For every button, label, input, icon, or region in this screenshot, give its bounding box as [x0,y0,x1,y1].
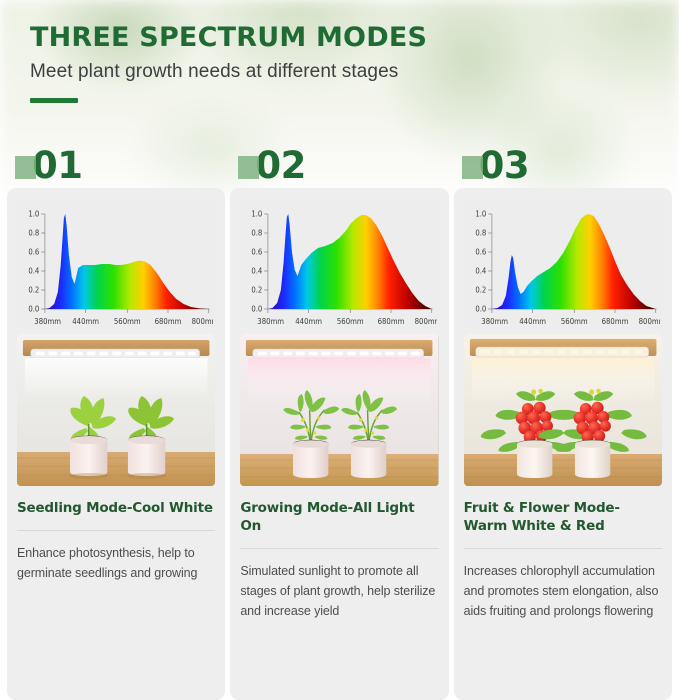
svg-text:680mm: 680mm [155,317,182,326]
spectrum-chart-svg: 1.0 0.8 0.6 0.4 0.2 0.0 380mm 440mm 560m… [19,204,213,334]
svg-text:560mm: 560mm [114,317,141,326]
page-header: THREE SPECTRUM MODES Meet plant growth n… [0,0,679,103]
svg-text:0.6: 0.6 [475,247,486,256]
spectrum-modes-page: THREE SPECTRUM MODES Meet plant growth n… [0,0,679,660]
svg-text:0.2: 0.2 [28,285,39,294]
svg-text:1.0: 1.0 [475,209,486,218]
spectrum-chart-01: 1.0 0.8 0.6 0.4 0.2 0.0 380mm 440mm 560m… [17,198,215,328]
grow-light-scene-full-spectrum [240,334,438,486]
accent-divider [30,98,78,103]
svg-text:440mm: 440mm [296,317,323,326]
badge-square-icon [15,156,36,179]
svg-text:0.2: 0.2 [252,285,263,294]
badge-square-icon [462,156,483,179]
mode-badge-03: 03 [454,142,672,188]
svg-text:380mm: 380mm [258,317,285,326]
badge-number: 01 [32,147,83,184]
mode-card-01: 1.0 0.8 0.6 0.4 0.2 0.0 380mm 440mm 560m… [7,188,225,700]
svg-text:680mm: 680mm [378,317,405,326]
svg-text:0.8: 0.8 [28,228,39,237]
spectrum-curve [268,214,432,309]
mode-photo-02 [240,334,438,486]
svg-text:800mm: 800mm [638,317,660,326]
svg-text:0.0: 0.0 [28,304,39,313]
mode-card-02: 1.0 0.8 0.6 0.4 0.2 0.0 380mm 440mm 560m… [230,188,448,700]
grow-light-scene-cool-white [17,334,215,486]
svg-text:0.8: 0.8 [252,228,263,237]
mode-card-03: 1.0 0.8 0.6 0.4 0.2 0.0 380mm 440mm 560m… [454,188,672,700]
svg-text:0.6: 0.6 [252,247,263,256]
spectrum-chart-03: 1.0 0.8 0.6 0.4 0.2 0.0 380mm 440mm 560m… [464,198,662,328]
mode-column-03: 03 [454,142,672,700]
grow-light-scene-warm-white-red [464,334,662,486]
svg-text:800mm: 800mm [415,317,437,326]
card-divider [240,548,438,549]
svg-text:440mm: 440mm [72,317,99,326]
svg-text:0.4: 0.4 [252,266,263,275]
mode-title: Fruit & Flower Mode-Warm White & Red [464,500,662,536]
card-divider [17,530,215,531]
mode-photo-03 [464,334,662,486]
mode-columns: 01 [0,142,679,700]
spectrum-curve [492,214,656,309]
card-divider [464,548,662,549]
page-title: THREE SPECTRUM MODES [30,24,679,52]
svg-text:0.0: 0.0 [252,304,263,313]
spectrum-chart-svg: 1.0 0.8 0.6 0.4 0.2 0.0 380mm 440mm 560m… [242,204,436,334]
mode-badge-01: 01 [7,142,225,188]
page-subtitle: Meet plant growth needs at different sta… [30,61,679,83]
mode-description: Increases chlorophyll accumulation and p… [464,561,662,622]
mode-column-01: 01 [7,142,225,700]
mode-title: Seedling Mode-Cool White [17,500,215,518]
svg-text:0.0: 0.0 [475,304,486,313]
svg-text:0.8: 0.8 [475,228,486,237]
svg-text:1.0: 1.0 [252,209,263,218]
mode-title: Growing Mode-All Light On [240,500,438,536]
svg-text:680mm: 680mm [601,317,628,326]
svg-text:380mm: 380mm [34,317,61,326]
svg-text:0.4: 0.4 [28,266,39,275]
svg-text:440mm: 440mm [519,317,546,326]
svg-text:560mm: 560mm [337,317,364,326]
spectrum-curve [45,214,209,309]
badge-square-icon [238,156,259,179]
svg-text:800mm: 800mm [192,317,214,326]
mode-description: Simulated sunlight to promote all stages… [240,561,438,622]
svg-text:0.2: 0.2 [475,285,486,294]
badge-number: 03 [479,147,530,184]
svg-text:0.4: 0.4 [475,266,486,275]
spectrum-chart-svg: 1.0 0.8 0.6 0.4 0.2 0.0 380mm 440mm 560m… [466,204,660,334]
badge-number: 02 [255,147,306,184]
spectrum-chart-02: 1.0 0.8 0.6 0.4 0.2 0.0 380mm 440mm 560m… [240,198,438,328]
svg-text:0.6: 0.6 [28,247,39,256]
mode-column-02: 02 [230,142,448,700]
svg-text:380mm: 380mm [481,317,508,326]
svg-text:560mm: 560mm [561,317,588,326]
svg-text:1.0: 1.0 [28,209,39,218]
mode-badge-02: 02 [230,142,448,188]
mode-photo-01 [17,334,215,486]
mode-description: Enhance photosynthesis, help to germinat… [17,543,215,584]
